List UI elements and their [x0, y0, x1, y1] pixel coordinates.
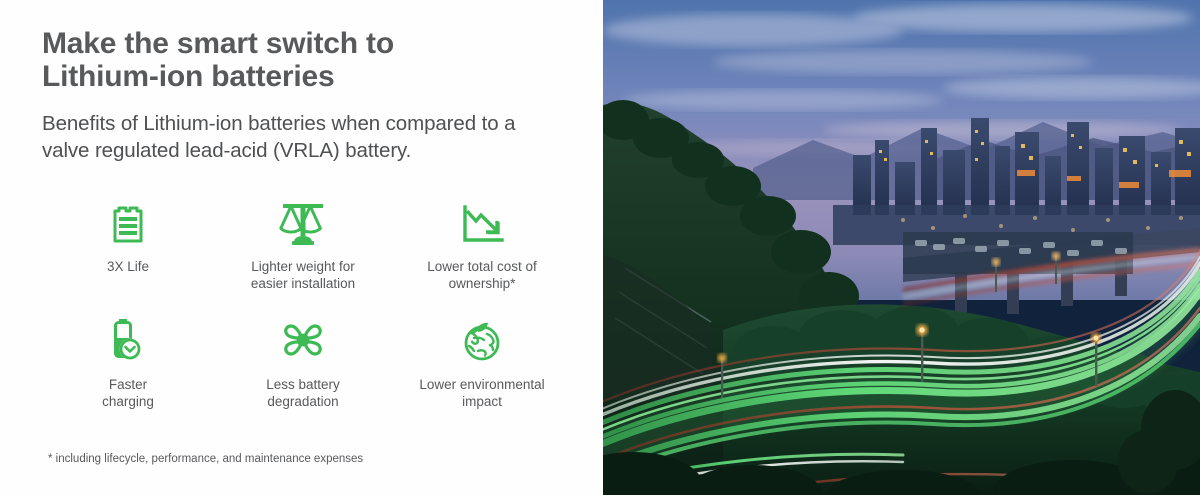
benefit-label-line-2: easier installation — [251, 276, 355, 291]
benefit-label-line-1: Lighter weight for — [251, 259, 355, 274]
benefit-label: Lighter weight for easier installation — [251, 258, 355, 292]
headline-line-2: Lithium-ion batteries — [42, 60, 562, 93]
benefit-item-lower-cost: Lower total cost of ownership* — [392, 196, 572, 314]
page-subtitle: Benefits of Lithium-ion batteries when c… — [42, 110, 597, 164]
benefit-label: Lower total cost of ownership* — [427, 258, 537, 292]
benefit-item-lighter-weight: Lighter weight for easier installation — [214, 196, 392, 314]
globe-leaf-icon — [457, 314, 507, 364]
benefits-grid: 3X Life Lighter weight for easi — [42, 196, 572, 432]
benefit-item-faster-charging: Faster charging — [42, 314, 214, 432]
benefit-label: Faster charging — [102, 376, 154, 410]
benefit-label-line-1: Less battery — [266, 377, 340, 392]
benefit-item-less-degradation: Less battery degradation — [214, 314, 392, 432]
battery-fast-charge-icon — [106, 314, 150, 364]
benefit-label: Less battery degradation — [266, 376, 340, 410]
balance-scale-icon — [275, 196, 331, 246]
subhead-line-2: valve regulated lead-acid (VRLA) battery… — [42, 137, 597, 164]
declining-chart-icon — [457, 196, 507, 246]
subhead-line-1: Benefits of Lithium-ion batteries when c… — [42, 112, 515, 135]
benefit-label-line-2: impact — [462, 394, 502, 409]
cityscape-photo — [603, 0, 1200, 495]
benefit-label-line-2: degradation — [267, 394, 338, 409]
promo-banner: Make the smart switch to Lithium-ion bat… — [0, 0, 1200, 495]
benefit-item-3x-life: 3X Life — [42, 196, 214, 314]
benefit-item-lower-environmental-impact: Lower environmental impact — [392, 314, 572, 432]
benefit-label-line-1: Faster — [109, 377, 147, 392]
footnote: * including lifecycle, performance, and … — [48, 452, 363, 467]
benefit-label: 3X Life — [107, 258, 149, 275]
content-panel: Make the smart switch to Lithium-ion bat… — [0, 0, 603, 495]
flower-petals-icon — [279, 314, 327, 364]
cityscape-illustration — [603, 0, 1200, 495]
headline-line-1: Make the smart switch to — [42, 27, 394, 60]
benefit-label-line-2: ownership* — [449, 276, 516, 291]
benefit-label-line-1: Lower environmental — [419, 377, 544, 392]
benefit-label-line-2: charging — [102, 394, 154, 409]
benefit-label: Lower environmental impact — [419, 376, 544, 410]
page-title: Make the smart switch to Lithium-ion bat… — [42, 27, 562, 93]
benefit-label-line-1: Lower total cost of — [427, 259, 537, 274]
battery-life-icon — [108, 196, 148, 246]
